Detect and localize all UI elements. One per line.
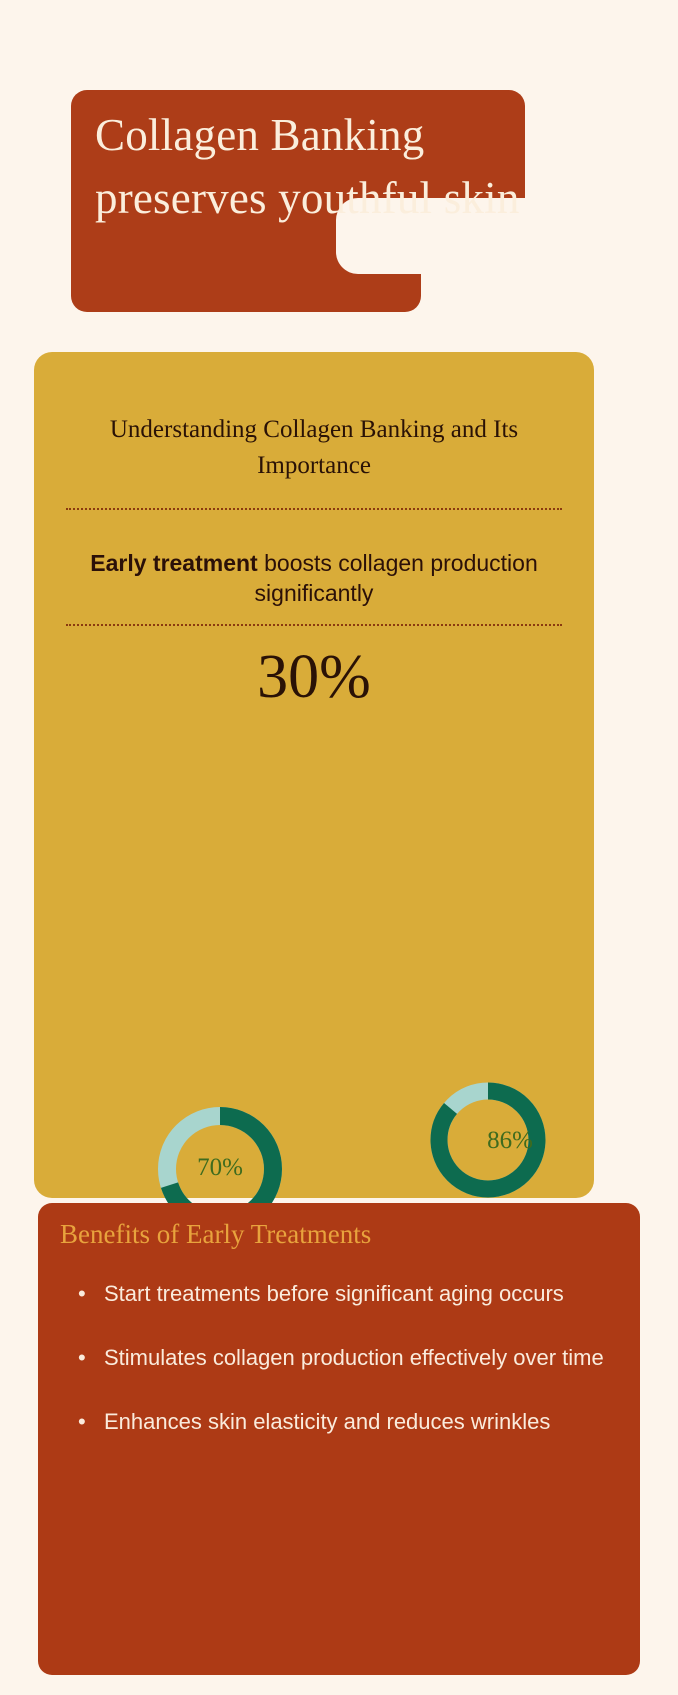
benefits-heading: Benefits of Early Treatments [60,1215,600,1253]
donut-label-86: 86% [440,1127,580,1155]
infographic-page: Collagen Banking preserves youthful skin… [0,0,678,1695]
headline-statistic: 30% [34,640,594,714]
list-item: • Enhances skin elasticity and reduces w… [68,1403,616,1441]
subtitle-rest: boosts collagen production significantly [255,550,538,606]
divider-bottom [66,624,562,626]
donut-label-70: 70% [138,1154,302,1182]
page-title: Collagen Banking preserves youthful skin [95,104,525,230]
list-item-label: Start treatments before significant agin… [104,1281,564,1306]
card-heading: Understanding Collagen Banking and Its I… [74,412,554,484]
bullet-marker-icon: • [78,1403,86,1441]
list-item-label: Enhances skin elasticity and reduces wri… [104,1409,550,1434]
donut-chart-86: 86% [418,1070,558,1210]
benefits-card: Benefits of Early Treatments • Start tre… [38,1203,640,1675]
collagen-banking-card: Understanding Collagen Banking and Its I… [34,352,594,1198]
divider-top [66,508,562,510]
list-item: • Stimulates collagen production effecti… [68,1339,616,1377]
card-subtitle: Early treatment boosts collagen producti… [84,548,544,608]
list-item-label: Stimulates collagen production effective… [104,1345,604,1370]
bullet-marker-icon: • [78,1275,86,1313]
subtitle-emphasis: Early treatment [90,550,257,576]
title-block: Collagen Banking preserves youthful skin [71,90,531,312]
benefits-list: • Start treatments before significant ag… [68,1275,616,1467]
bullet-marker-icon: • [78,1339,86,1377]
list-item: • Start treatments before significant ag… [68,1275,616,1313]
